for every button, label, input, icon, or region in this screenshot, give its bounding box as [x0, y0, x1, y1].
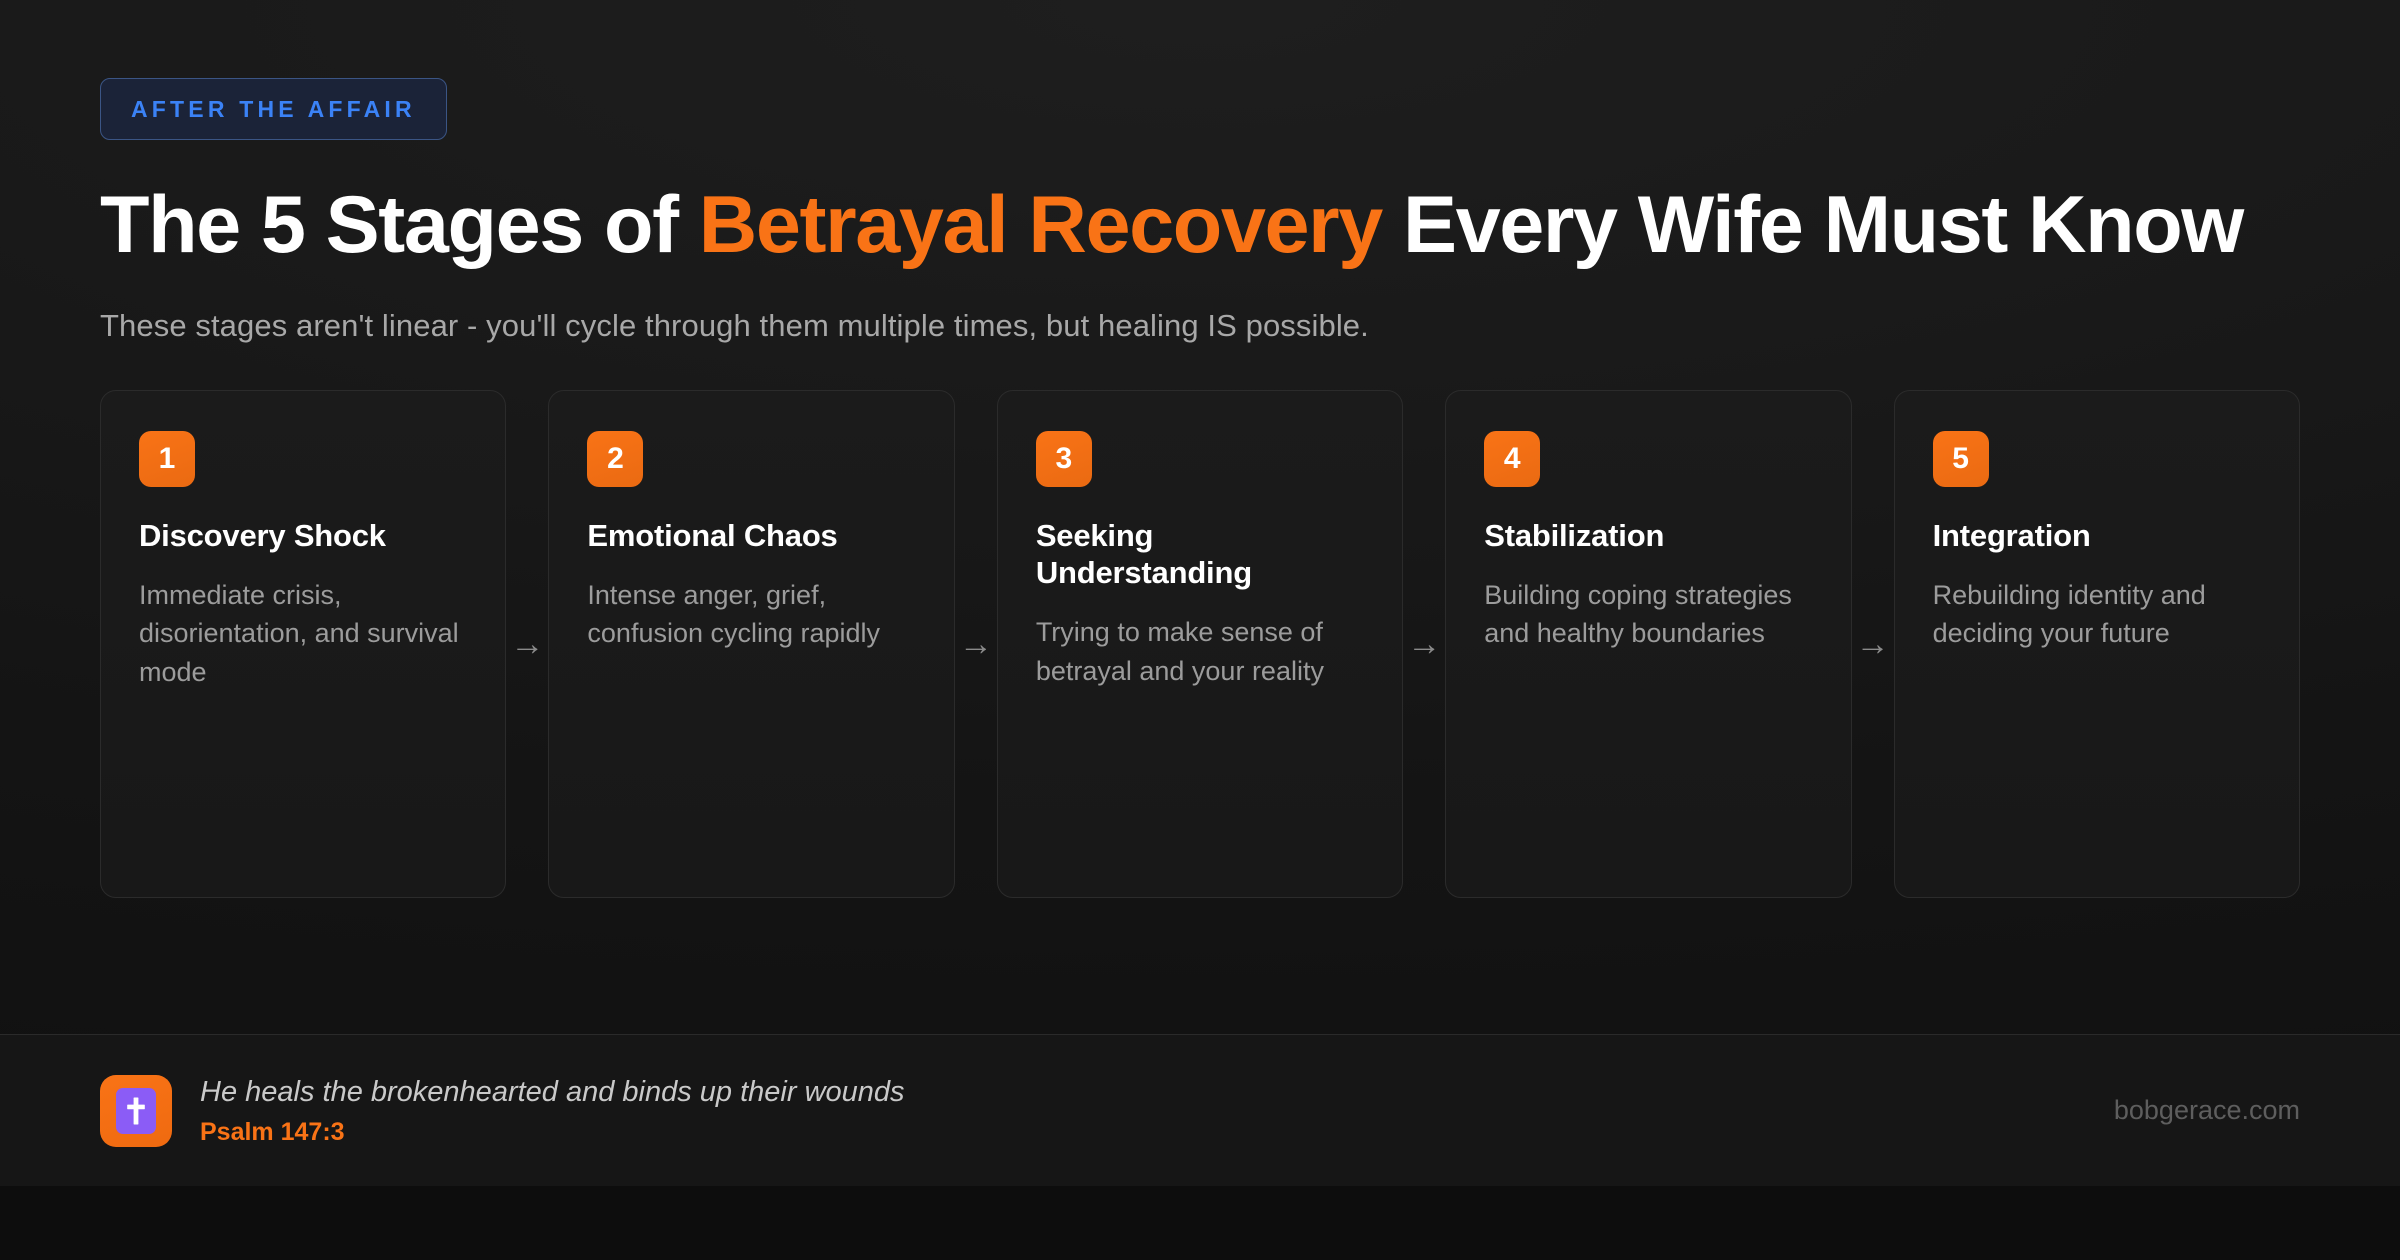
scripture-block: He heals the brokenhearted and binds up … — [200, 1074, 905, 1147]
main-stage: AFTER THE AFFAIR The 5 Stages of Betraya… — [0, 0, 2400, 1034]
stage-title: Emotional Chaos — [587, 517, 915, 554]
stage-number-badge: 2 — [587, 431, 643, 487]
arrow-right-icon-3: → — [1403, 390, 1445, 898]
stage-description: Building coping strategies and healthy b… — [1484, 576, 1812, 653]
headline-part-2: Every Wife Must Know — [1382, 180, 2243, 270]
stage-cards-row: 1 Discovery Shock Immediate crisis, diso… — [100, 390, 2300, 898]
headline-accent: Betrayal Recovery — [699, 180, 1382, 270]
stage-card-4[interactable]: 4 Stabilization Building coping strategi… — [1445, 390, 1851, 898]
page-title: The 5 Stages of Betrayal Recovery Every … — [100, 182, 2300, 270]
stage-number-badge: 3 — [1036, 431, 1092, 487]
stage-card-2[interactable]: 2 Emotional Chaos Intense anger, grief, … — [548, 390, 954, 898]
eyebrow-badge: AFTER THE AFFAIR — [100, 78, 447, 140]
site-url: bobgerace.com — [2114, 1095, 2300, 1126]
eyebrow-label: AFTER THE AFFAIR — [131, 96, 416, 123]
cross-icon — [100, 1075, 172, 1147]
cross-icon-inner — [116, 1088, 156, 1134]
stage-number-badge: 5 — [1933, 431, 1989, 487]
stage-card-1[interactable]: 1 Discovery Shock Immediate crisis, diso… — [100, 390, 506, 898]
stage-description: Intense anger, grief, confusion cycling … — [587, 576, 915, 653]
headline-part-1: The 5 Stages of — [100, 180, 699, 270]
stage-description: Immediate crisis, disorientation, and su… — [139, 576, 467, 691]
arrow-right-icon-2: → — [955, 390, 997, 898]
stage-card-5[interactable]: 5 Integration Rebuilding identity and de… — [1894, 390, 2300, 898]
infographic-screen: AFTER THE AFFAIR The 5 Stages of Betraya… — [0, 0, 2400, 1260]
footer-bar: He heals the brokenhearted and binds up … — [0, 1034, 2400, 1186]
stage-card-3[interactable]: 3 Seeking Understanding Trying to make s… — [997, 390, 1403, 898]
bottom-strip — [0, 1186, 2400, 1260]
scripture-text: He heals the brokenhearted and binds up … — [200, 1074, 905, 1110]
stage-description: Rebuilding identity and deciding your fu… — [1933, 576, 2261, 653]
scripture-reference: Psalm 147:3 — [200, 1118, 905, 1147]
stage-title: Stabilization — [1484, 517, 1812, 554]
page-subtitle: These stages aren't linear - you'll cycl… — [100, 308, 2300, 344]
stage-description: Trying to make sense of betrayal and you… — [1036, 613, 1364, 690]
stage-number-badge: 4 — [1484, 431, 1540, 487]
stage-title: Integration — [1933, 517, 2261, 554]
stage-title: Discovery Shock — [139, 517, 467, 554]
arrow-right-icon-4: → — [1852, 390, 1894, 898]
stage-title: Seeking Understanding — [1036, 517, 1364, 591]
stage-number-badge: 1 — [139, 431, 195, 487]
arrow-right-icon-1: → — [506, 390, 548, 898]
